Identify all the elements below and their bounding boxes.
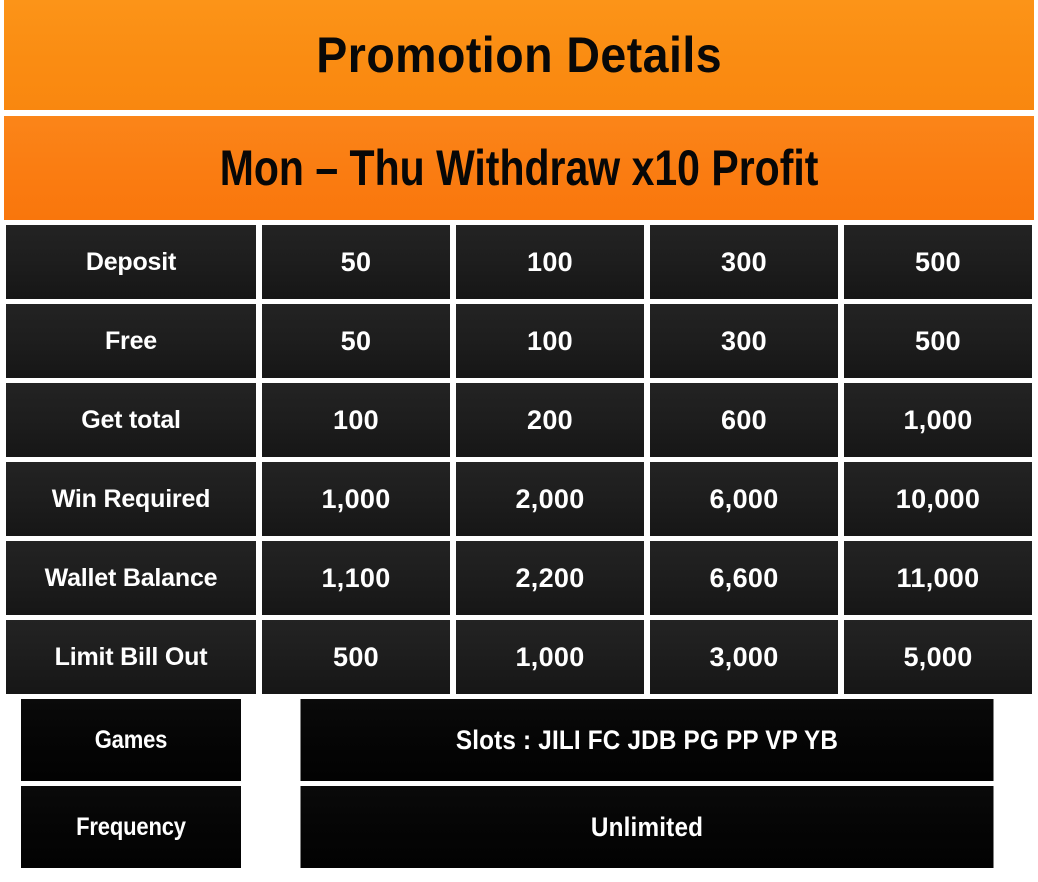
table-cell: 100 <box>456 225 644 299</box>
table-cell: 1,000 <box>844 383 1032 457</box>
table-cell: 600 <box>650 383 838 457</box>
table-cell: 2,200 <box>456 541 644 615</box>
table-cell: 1,100 <box>262 541 450 615</box>
row-label-wallet-balance: Wallet Balance <box>6 541 256 615</box>
row-label-limit-bill-out: Limit Bill Out <box>6 620 256 694</box>
row-label-get-total: Get total <box>6 383 256 457</box>
table-cell: 500 <box>844 225 1032 299</box>
table-cell: 500 <box>844 304 1032 378</box>
row-label-free: Free <box>6 304 256 378</box>
table-cell: 50 <box>262 304 450 378</box>
promotion-table: Deposit 50 100 300 500 Free 50 100 300 5… <box>0 220 1038 882</box>
table-cell: 6,600 <box>650 541 838 615</box>
table-row: Limit Bill Out 500 1,000 3,000 5,000 <box>6 620 1032 694</box>
row-label-deposit: Deposit <box>6 225 256 299</box>
table-cell: 11,000 <box>844 541 1032 615</box>
table-row: Free 50 100 300 500 <box>6 304 1032 378</box>
table-cell: 300 <box>650 225 838 299</box>
row-label-games: Games <box>21 699 241 781</box>
table-cell: 200 <box>456 383 644 457</box>
table-cell: 1,000 <box>456 620 644 694</box>
table-row: Frequency Unlimited <box>6 786 1032 868</box>
table-cell: 5,000 <box>844 620 1032 694</box>
table-row: Wallet Balance 1,100 2,200 6,600 11,000 <box>6 541 1032 615</box>
table-cell: 100 <box>456 304 644 378</box>
row-label-win-required: Win Required <box>6 462 256 536</box>
table-row: Games Slots : JILI FC JDB PG PP VP YB <box>6 699 1032 781</box>
table-cell: 100 <box>262 383 450 457</box>
table-cell-games-value: Slots : JILI FC JDB PG PP VP YB <box>301 699 994 781</box>
table-row: Get total 100 200 600 1,000 <box>6 383 1032 457</box>
table-cell: 6,000 <box>650 462 838 536</box>
table-cell: 10,000 <box>844 462 1032 536</box>
table-cell-frequency-value: Unlimited <box>301 786 994 868</box>
page-title: Promotion Details <box>316 30 722 80</box>
promotion-subtitle-bar: Mon – Thu Withdraw x10 Profit <box>4 116 1034 220</box>
promotion-details-page: Promotion Details Mon – Thu Withdraw x10… <box>0 0 1038 882</box>
promotion-title-bar: Promotion Details <box>4 0 1034 110</box>
table-cell: 2,000 <box>456 462 644 536</box>
table-cell: 50 <box>262 225 450 299</box>
table-cell: 500 <box>262 620 450 694</box>
table-row: Win Required 1,000 2,000 6,000 10,000 <box>6 462 1032 536</box>
table-cell: 1,000 <box>262 462 450 536</box>
table-cell: 3,000 <box>650 620 838 694</box>
promotion-subtitle: Mon – Thu Withdraw x10 Profit <box>220 143 819 193</box>
table-cell: 300 <box>650 304 838 378</box>
row-label-frequency: Frequency <box>21 786 241 868</box>
table-row: Deposit 50 100 300 500 <box>6 225 1032 299</box>
